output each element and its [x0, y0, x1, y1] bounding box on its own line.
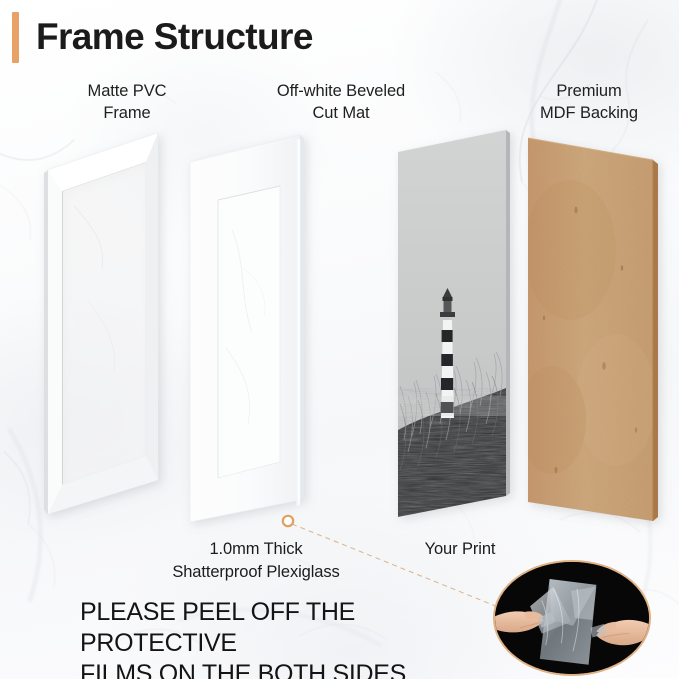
- peel-notice: PLEASE PEEL OFF THE PROTECTIVE FILMS ON …: [80, 597, 500, 679]
- layer-cut-mat: [190, 135, 304, 522]
- peel-notice-highlight: BOTH SIDES: [258, 659, 406, 679]
- peel-notice-line2-wrap: FILMS ON THE BOTH SIDES: [80, 659, 500, 679]
- layer-print: [398, 130, 510, 517]
- infographic-canvas: Frame Structure Matte PVC Frame Off-whit…: [0, 0, 679, 679]
- leader-marker-dot: [283, 516, 293, 526]
- caption-your-print: Your Print: [400, 538, 520, 561]
- caption-plexiglass-line2: Shatterproof Plexiglass: [132, 561, 380, 584]
- peel-notice-line2-prefix: FILMS ON THE: [80, 660, 258, 679]
- peel-notice-highlight-text: BOTH SIDES: [258, 660, 406, 679]
- caption-plexiglass-line1: 1.0mm Thick: [132, 538, 380, 561]
- layer-mdf-backing: [518, 130, 665, 530]
- peel-notice-line1: PLEASE PEEL OFF THE PROTECTIVE: [80, 597, 500, 659]
- layer-plexiglass: [296, 139, 302, 506]
- caption-plexiglass: 1.0mm Thick Shatterproof Plexiglass: [132, 538, 380, 584]
- peel-demo-photo: [493, 560, 651, 676]
- layer-pvc-frame: [44, 133, 158, 514]
